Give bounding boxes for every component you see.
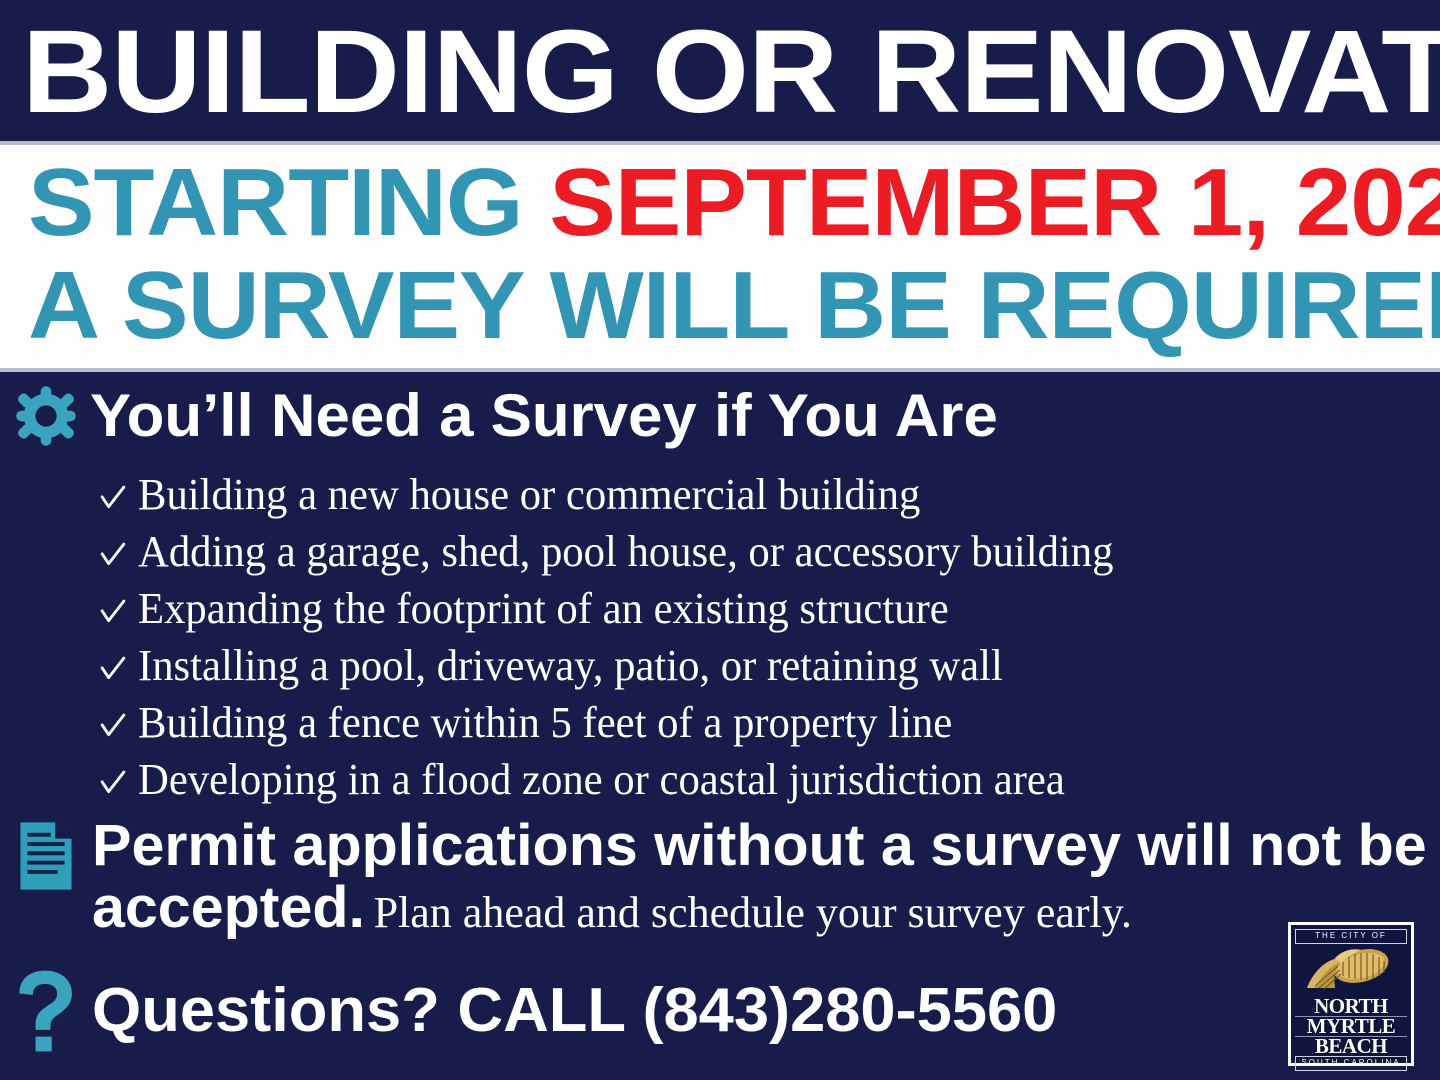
- list-item-label: Building a new house or commercial build…: [138, 470, 920, 520]
- page-title: BUILDING OR RENOVATING?: [22, 13, 1440, 131]
- logo-city-name: NORTH MYRTLE BEACH: [1295, 997, 1407, 1056]
- check-icon: [100, 656, 126, 682]
- date-banner-line-1: STARTING SEPTEMBER 1, 2025,: [28, 151, 1440, 254]
- check-icon: [100, 599, 126, 625]
- list-item: Adding a garage, shed, pool house, or ac…: [100, 527, 1144, 584]
- questions-row: Questions? CALL (843)280-5560: [14, 969, 1038, 1053]
- list-item: Developing in a flood zone or coastal ju…: [100, 755, 1144, 812]
- list-item: Building a fence within 5 feet of a prop…: [100, 698, 1144, 755]
- logo-name-line-3: BEACH: [1295, 1037, 1407, 1056]
- date-banner-line-2: A SURVEY WILL BE REQUIRED: [28, 254, 1440, 357]
- list-item-label: Installing a pool, driveway, patio, or r…: [138, 641, 1003, 691]
- date-banner-highlight: SEPTEMBER 1, 2025,: [549, 149, 1440, 256]
- questions-text: Questions? CALL (843)280-5560: [92, 980, 1057, 1042]
- list-item: Expanding the footprint of an existing s…: [100, 584, 1144, 641]
- requirements-heading: You’ll Need a Survey if You Are: [90, 386, 998, 446]
- date-banner: STARTING SEPTEMBER 1, 2025, A SURVEY WIL…: [0, 145, 1440, 368]
- logo-top-label: THE CITY OF: [1295, 929, 1407, 944]
- check-icon: [100, 542, 126, 568]
- list-item: Installing a pool, driveway, patio, or r…: [100, 641, 1144, 698]
- permit-notice-line-1: Permit applications without a survey wil…: [92, 815, 1440, 877]
- check-icon: [100, 485, 126, 511]
- logo-bottom-label: SOUTH CAROLINA: [1295, 1056, 1407, 1071]
- document-icon: [18, 820, 74, 892]
- list-item-label: Building a fence within 5 feet of a prop…: [138, 698, 952, 748]
- list-item: Building a new house or commercial build…: [100, 470, 1144, 527]
- question-mark-icon: [14, 969, 76, 1053]
- check-icon: [100, 713, 126, 739]
- permit-notice-subtext: Plan ahead and schedule your survey earl…: [374, 888, 1132, 937]
- permit-notice: Permit applications without a survey wil…: [14, 815, 1434, 954]
- date-banner-prefix: STARTING: [28, 149, 549, 256]
- check-icon: [100, 770, 126, 796]
- poster-root: BUILDING OR RENOVATING? STARTING SEPTEMB…: [0, 0, 1440, 1080]
- list-item-label: Adding a garage, shed, pool house, or ac…: [138, 527, 1113, 577]
- requirements-heading-row: You’ll Need a Survey if You Are: [12, 382, 971, 450]
- city-logo: THE CITY OF: [1288, 922, 1414, 1066]
- conch-shell-icon: [1295, 944, 1407, 997]
- list-item-label: Expanding the footprint of an existing s…: [138, 584, 949, 634]
- gear-icon: [12, 382, 80, 450]
- requirements-list: Building a new house or commercial build…: [100, 470, 1144, 812]
- list-item-label: Developing in a flood zone or coastal ju…: [138, 755, 1065, 805]
- headline-band: BUILDING OR RENOVATING?: [0, 0, 1440, 143]
- body-band: You’ll Need a Survey if You Are Building…: [0, 372, 1440, 1080]
- permit-notice-emphasis: accepted.: [92, 877, 365, 939]
